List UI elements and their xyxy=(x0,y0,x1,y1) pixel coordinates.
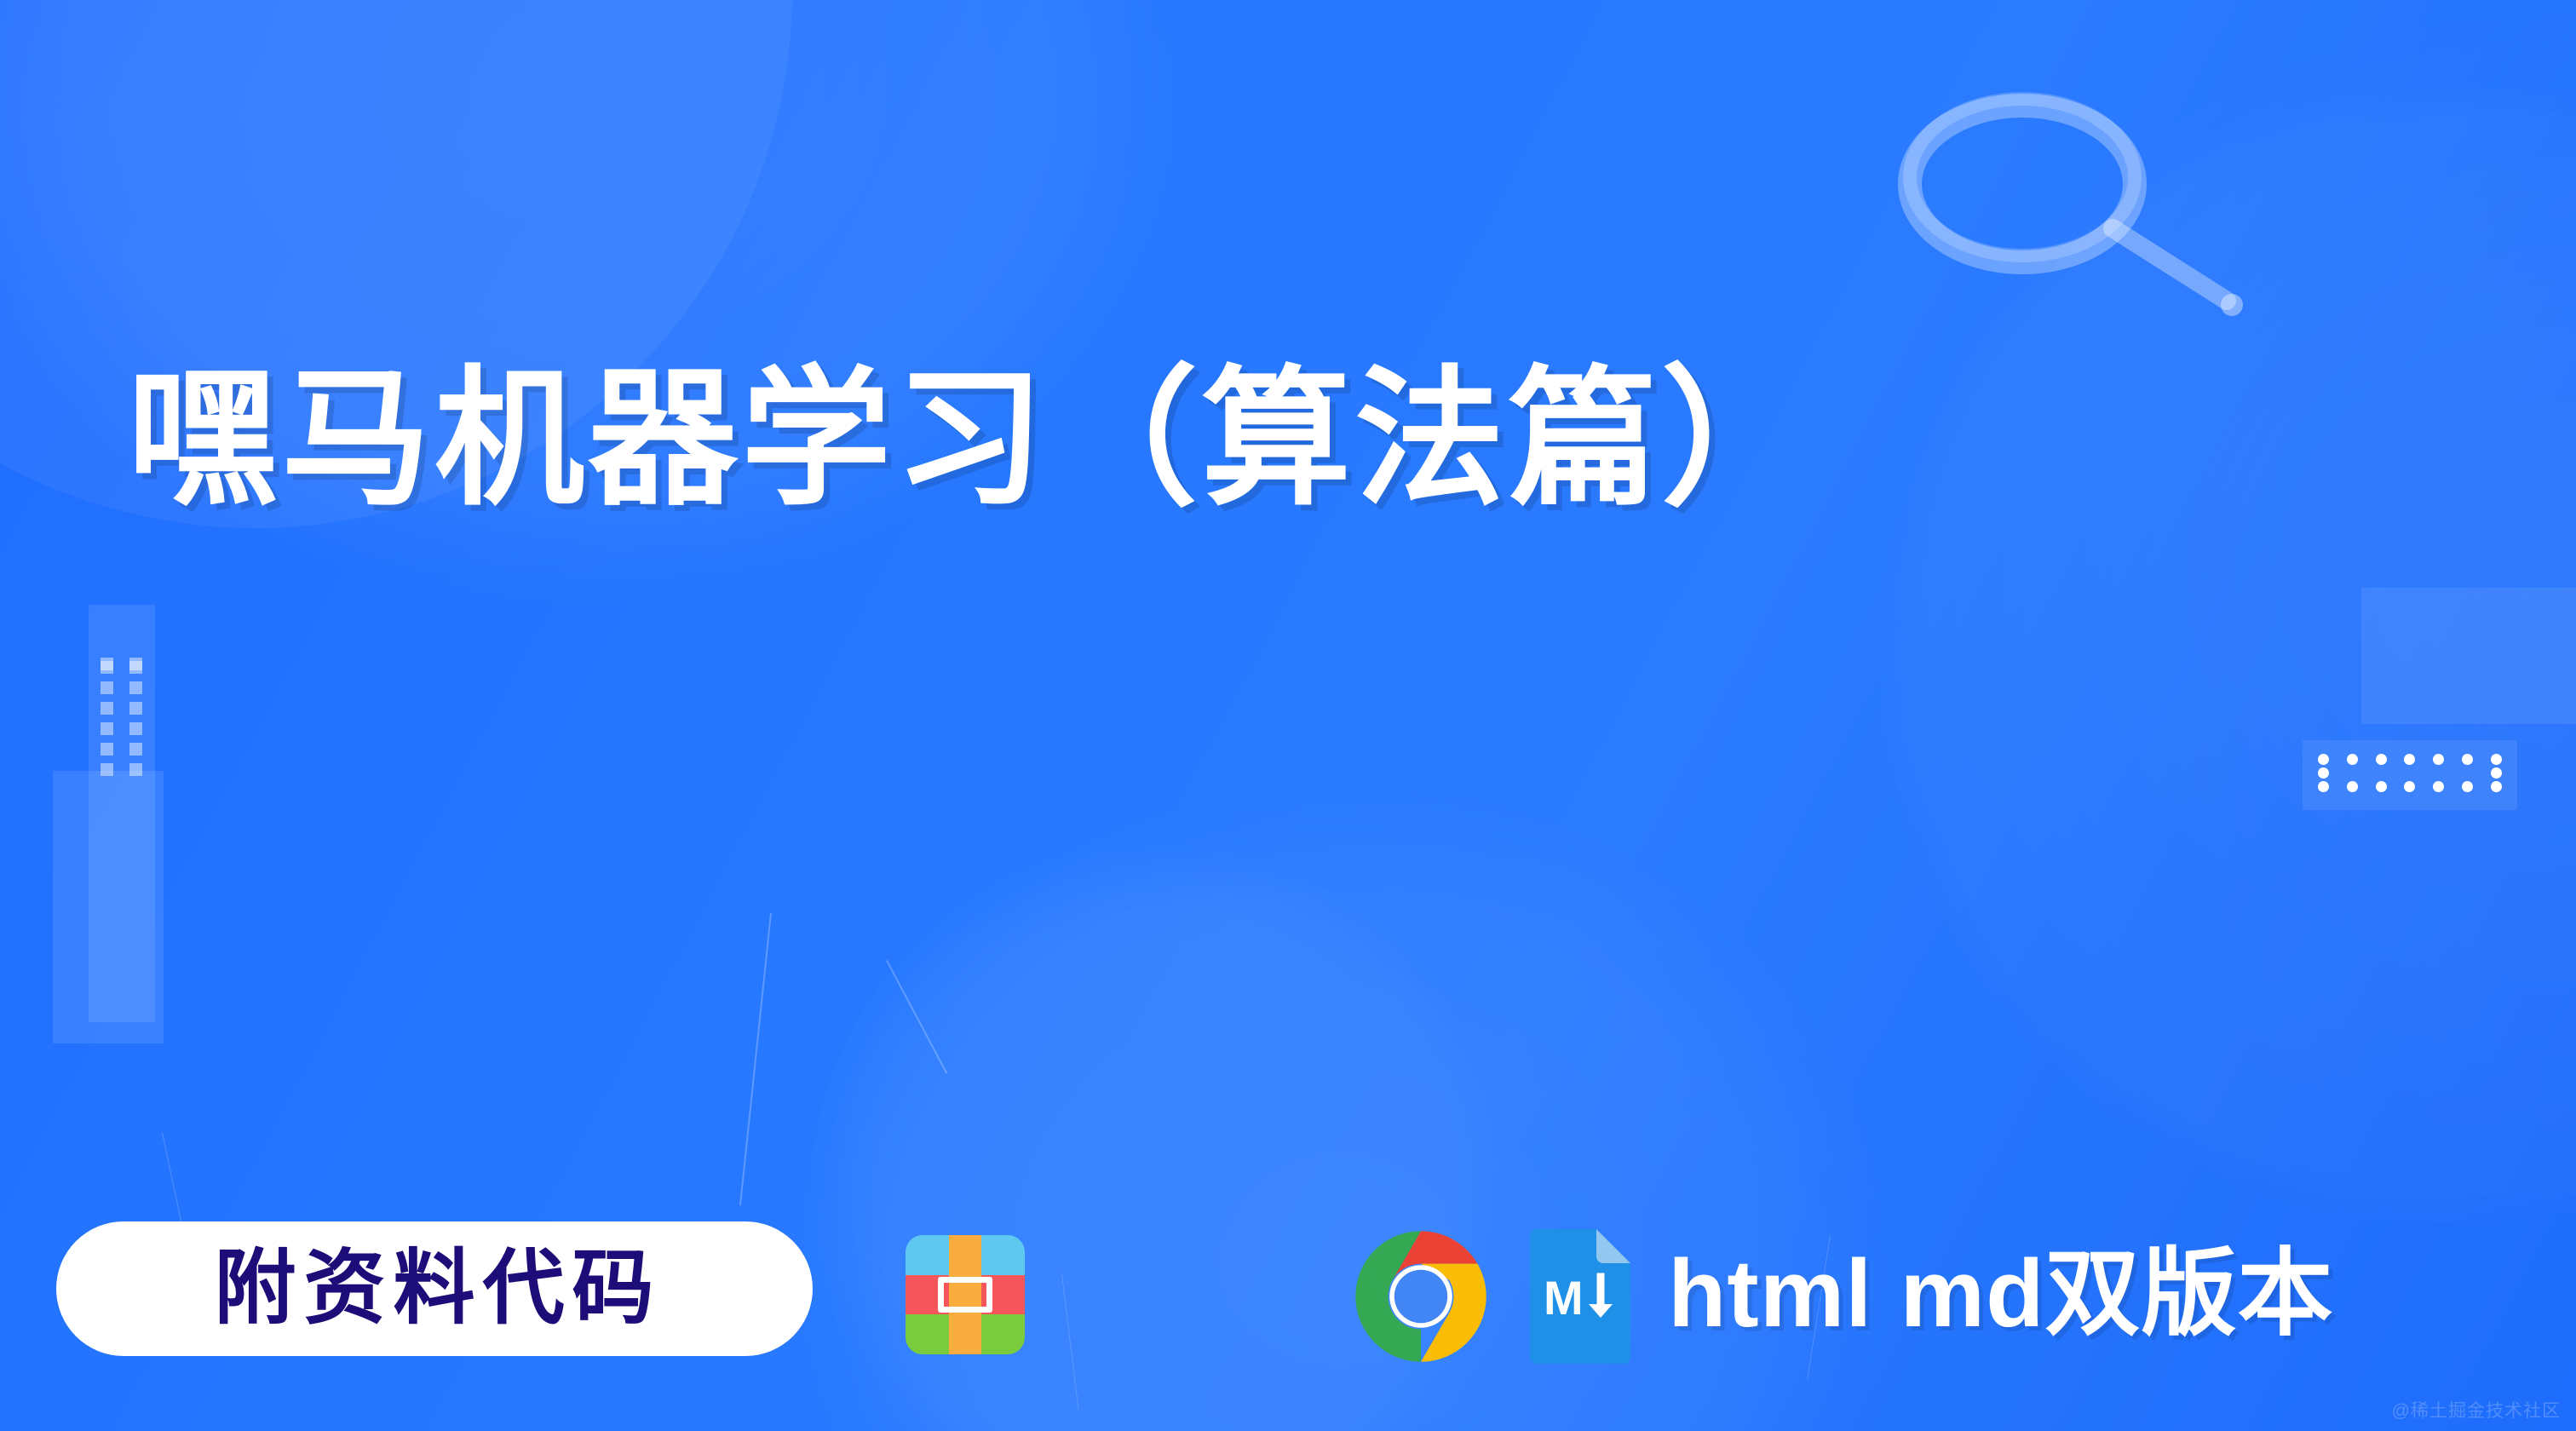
right-panel-decoration xyxy=(2361,588,2576,724)
page-title: 嘿马机器学习（算法篇） xyxy=(128,334,2428,547)
svg-text:M: M xyxy=(1544,1271,1584,1325)
dot-grid-row xyxy=(2318,766,2502,779)
right-text-label: html md双版本 xyxy=(1668,1228,2334,1360)
building-window xyxy=(101,681,113,694)
watermark: @稀土掘金技术社区 xyxy=(2392,1397,2561,1422)
dot-grid-row xyxy=(2318,779,2502,793)
magnifier-icon xyxy=(1893,92,2268,330)
building-window xyxy=(129,702,142,715)
archive-rar-icon xyxy=(906,1235,1025,1354)
building-window xyxy=(129,681,142,694)
building-window xyxy=(101,702,113,715)
building-decoration-icon-secondary xyxy=(53,771,164,1043)
badge-label: 附资料代码 xyxy=(208,1248,662,1330)
markdown-file-icon: M xyxy=(1525,1229,1636,1364)
dot-grid-row xyxy=(2318,752,2502,766)
building-window xyxy=(101,743,113,756)
building-window xyxy=(101,658,113,670)
chrome-browser-icon xyxy=(1353,1228,1489,1365)
dot-grid-decoration-icon xyxy=(2303,740,2517,810)
building-window xyxy=(129,743,142,756)
building-window xyxy=(101,722,113,735)
building-window xyxy=(129,722,142,735)
building-window xyxy=(129,658,142,670)
status-badge: 附资料代码 xyxy=(56,1221,813,1356)
